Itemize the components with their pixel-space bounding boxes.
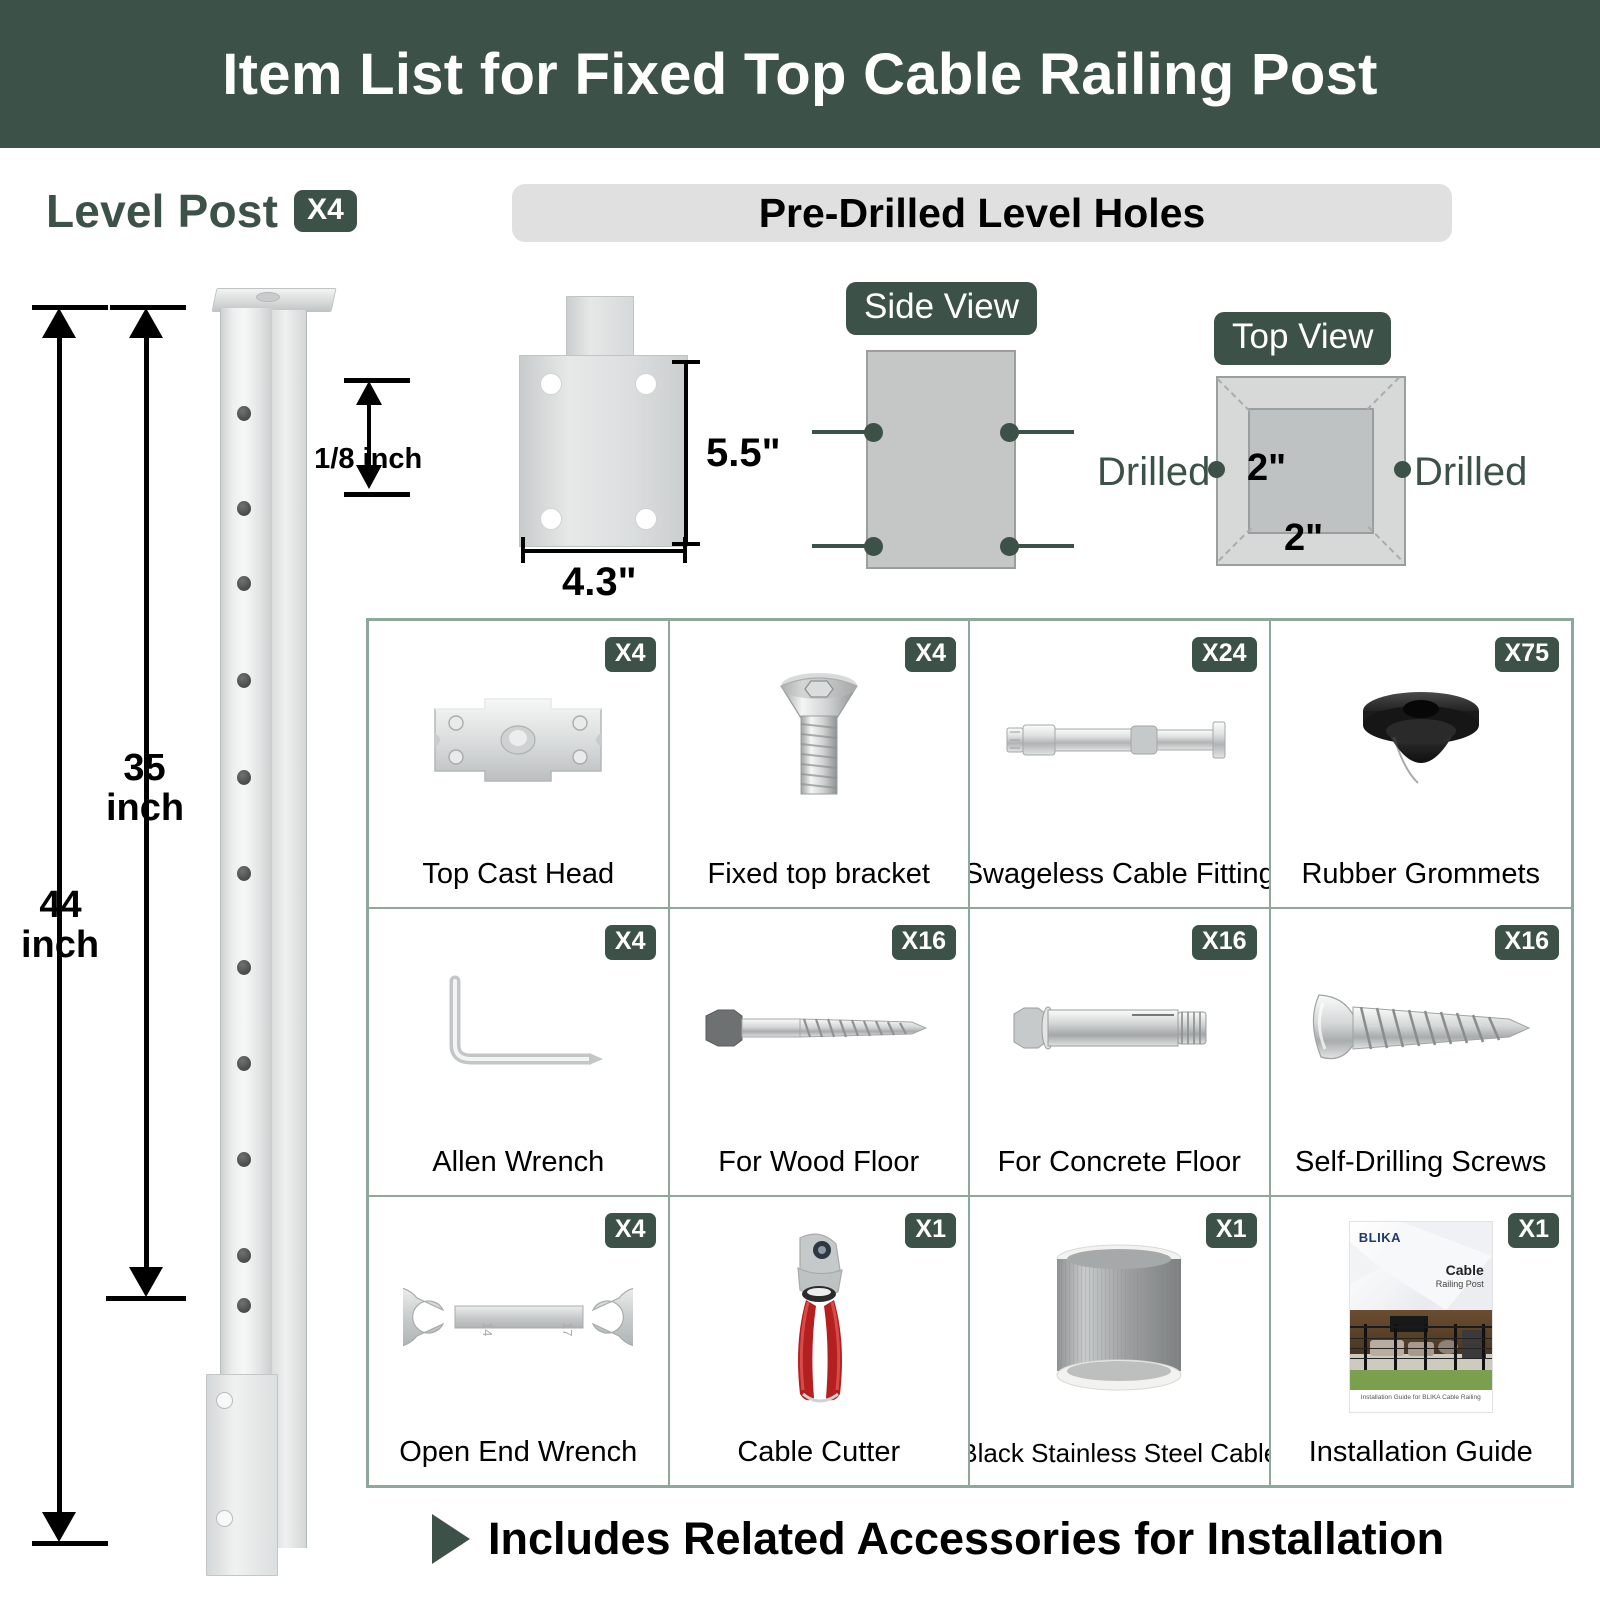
base-plate-hole	[216, 1510, 233, 1527]
part-cell-for-concrete-floor[interactable]: X16 For Concrete Floor	[970, 909, 1271, 1197]
part-label: Top Cast Head	[418, 858, 618, 897]
dim35-value-line2: inch	[86, 788, 204, 829]
post-hole	[237, 770, 251, 785]
top-view-pill: Top View	[1214, 312, 1391, 365]
top-view-drilled-left-label: Drilled	[1097, 450, 1210, 495]
rubber-grommet-icon	[1271, 621, 1572, 858]
lag-screw-icon	[670, 909, 969, 1146]
top-view-drill-dot-right	[1394, 461, 1411, 478]
holespacing-bottom-tick	[344, 492, 410, 497]
part-cell-installation-guide[interactable]: X1 BLIKA Cable Railing Post	[1271, 1197, 1572, 1485]
part-label: Rubber Grommets	[1297, 858, 1544, 897]
dim35-bottom-tick	[106, 1296, 186, 1301]
plate-hole	[635, 373, 657, 395]
cable-spool-icon	[970, 1197, 1269, 1438]
top-view-drilled-right-label: Drilled	[1414, 450, 1527, 495]
post-hole	[237, 406, 251, 421]
post-hole	[237, 576, 251, 591]
plate-height-value: 5.5"	[706, 431, 781, 476]
part-label: Black Stainless Steel Cable	[970, 1438, 1271, 1475]
dim44-arrow-down	[42, 1512, 76, 1542]
side-view-drill-dot	[864, 423, 883, 442]
part-label: Cable Cutter	[733, 1436, 904, 1475]
page-title: Item List for Fixed Top Cable Railing Po…	[222, 41, 1378, 108]
post-hole	[237, 673, 251, 688]
dim44-bottom-tick	[32, 1541, 108, 1546]
dim35-arrow-down	[129, 1267, 163, 1297]
part-cell-for-wood-floor[interactable]: X16 For Wood Floor	[670, 909, 971, 1197]
part-label: For Wood Floor	[714, 1146, 923, 1185]
post-hole	[237, 1298, 251, 1313]
part-cell-allen-wrench[interactable]: X4 Allen Wrench	[369, 909, 670, 1197]
pre-drilled-title: Pre-Drilled Level Holes	[759, 190, 1206, 237]
guide-caption: Installation Guide for BLIKA Cable Raili…	[1350, 1394, 1492, 1401]
part-cell-top-cast-head[interactable]: X4 Top Cast Head	[369, 621, 670, 909]
dim44-value-line1: 44	[8, 885, 113, 926]
post-cap-hole	[256, 292, 280, 302]
top-view-drill-dot-left	[1208, 461, 1225, 478]
concrete-anchor-icon	[970, 909, 1269, 1146]
parts-list-grid: X4 Top Cast Head X4	[366, 618, 1574, 1488]
top-view-width-value: 2"	[1247, 447, 1286, 490]
side-view-pill: Side View	[846, 282, 1037, 335]
part-label: Self-Drilling Screws	[1291, 1146, 1550, 1185]
guide-brand: BLIKA	[1359, 1230, 1401, 1245]
dim44-value-line2: inch	[0, 925, 120, 966]
level-post-heading: Level Post X4	[46, 180, 357, 242]
part-cell-rubber-grommets[interactable]: X75 Rubber Grommets	[1271, 621, 1572, 909]
cable-fitting-icon	[970, 621, 1269, 858]
svg-text:17: 17	[560, 1322, 575, 1336]
footer-note: Includes Related Accessories for Install…	[432, 1502, 1444, 1576]
plate-hole	[540, 373, 562, 395]
allen-wrench-icon	[369, 909, 668, 1146]
top-cast-head-icon	[369, 621, 668, 858]
plate-width-value: 4.3"	[562, 560, 637, 605]
footer-text: Includes Related Accessories for Install…	[488, 1513, 1444, 1565]
part-label: Fixed top bracket	[704, 858, 934, 897]
base-plate-hole	[216, 1392, 233, 1409]
plate-width-cap-right	[683, 537, 687, 563]
side-view-lead-line	[1012, 544, 1074, 548]
part-cell-fixed-top-bracket[interactable]: X4	[670, 621, 971, 909]
dim35-value-line1: 35	[92, 748, 197, 789]
part-label: For Concrete Floor	[994, 1146, 1245, 1185]
page-header: Item List for Fixed Top Cable Railing Po…	[0, 0, 1600, 148]
plate-width-dimline	[521, 549, 687, 553]
post-hole	[237, 1248, 251, 1263]
cable-cutter-icon	[670, 1197, 969, 1436]
open-end-wrench-icon: 14 17	[369, 1197, 668, 1436]
side-view-post-section	[866, 350, 1016, 569]
pre-drilled-section-header: Pre-Drilled Level Holes	[512, 184, 1452, 242]
post-hole	[237, 1152, 251, 1167]
level-post-qty-badge: X4	[294, 190, 357, 232]
guide-subtitle: Railing Post	[1436, 1279, 1484, 1289]
post-hole	[237, 960, 251, 975]
post-hole	[237, 1056, 251, 1071]
level-post-label: Level Post	[46, 184, 278, 238]
post-hole	[237, 501, 251, 516]
top-view-depth-value: 2"	[1284, 517, 1323, 560]
post-side-face	[272, 310, 307, 1548]
post-front-face	[220, 308, 274, 1548]
installation-guide-icon: BLIKA Cable Railing Post	[1271, 1197, 1572, 1436]
part-cell-open-end-wrench[interactable]: X4 14 17 Open End Wrench	[369, 1197, 670, 1485]
plate-height-cap-top	[672, 360, 700, 364]
self-drilling-screw-icon	[1271, 909, 1572, 1146]
plate-hole	[540, 508, 562, 530]
side-view-drill-dot	[864, 537, 883, 556]
part-cell-swageless-cable-fitting[interactable]: X24 Swageless Cable Fitting	[970, 621, 1271, 909]
side-view-lead-line	[1012, 430, 1074, 434]
triangle-bullet-icon	[432, 1514, 470, 1564]
post-hole	[237, 866, 251, 881]
plate-height-dimline	[684, 360, 688, 546]
plate-width-cap-left	[521, 537, 525, 563]
svg-text:14: 14	[480, 1322, 495, 1336]
part-cell-cable-cutter[interactable]: X1 Cable Cutter	[670, 1197, 971, 1485]
part-label: Open End Wrench	[395, 1436, 641, 1475]
level-post-illustration	[198, 288, 343, 1578]
part-label: Installation Guide	[1305, 1436, 1537, 1475]
part-cell-black-stainless-steel-cable[interactable]: X1 B	[970, 1197, 1271, 1485]
part-label: Swageless Cable Fitting	[970, 858, 1271, 897]
plate-tab	[566, 296, 634, 360]
part-label: Allen Wrench	[428, 1146, 608, 1185]
plate-hole	[635, 508, 657, 530]
part-cell-self-drilling-screws[interactable]: X16 Self-Drilling Screws	[1271, 909, 1572, 1197]
guide-title: Cable	[1446, 1262, 1484, 1278]
countersunk-bolt-icon	[670, 621, 969, 858]
